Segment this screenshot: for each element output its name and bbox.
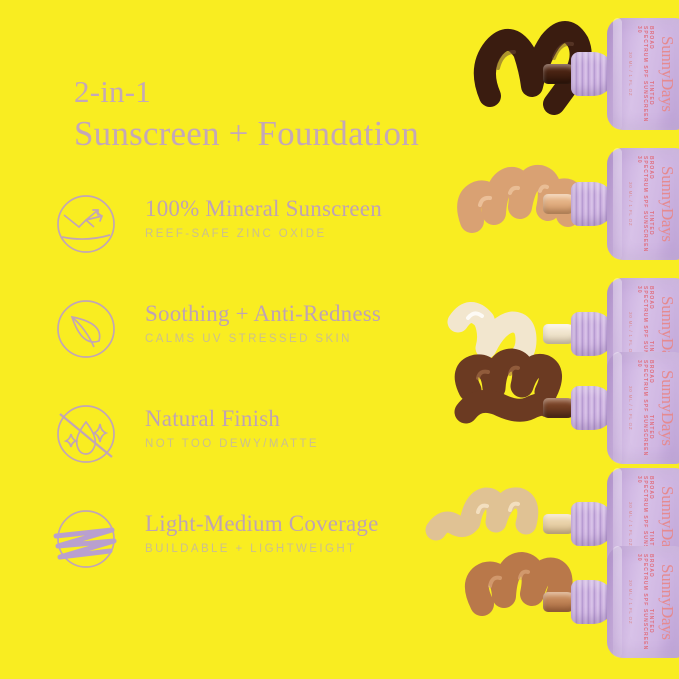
feature-text-group: Soothing + Anti-Redness CALMS UV STRESSE… <box>145 301 381 345</box>
bottle-label: 30 ML / 1 FL OZ BROAD SPECTRUM SPF 30 TI… <box>615 360 677 456</box>
bottle-volume: 30 ML / 1 FL OZ <box>628 502 633 546</box>
feature-item-natural-finish: Natural Finish NOT TOO DEWY/MATTE <box>52 400 472 505</box>
feature-subtitle: NOT TOO DEWY/MATTE <box>145 438 319 450</box>
bottle-label: 30 ML / 1 FL OZ BROAD SPECTRUM SPF 30 TI… <box>615 554 677 650</box>
feature-subtitle: REEF-SAFE ZINC OXIDE <box>145 228 382 240</box>
product-bottle[interactable]: 30 ML / 1 FL OZ BROAD SPECTRUM SPF 30 TI… <box>573 148 679 260</box>
feature-subtitle: CALMS UV STRESSED SKIN <box>145 333 381 345</box>
feature-title: Natural Finish <box>145 406 319 432</box>
bottle-claims: BROAD SPECTRUM SPF 30 TINTED SUNSCREEN <box>636 156 654 252</box>
sunscreen-deflect-icon <box>52 190 120 258</box>
bottle-claims: BROAD SPECTRUM SPF 30 TINTED SUNSCREEN <box>636 554 654 650</box>
bottle-claim-line-2: TINTED SUNSCREEN <box>636 211 654 252</box>
bottle-label: 30 ML / 1 FL OZ BROAD SPECTRUM SPF 30 TI… <box>615 26 677 122</box>
product-bottle[interactable]: 30 ML / 1 FL OZ BROAD SPECTRUM SPF 30 TI… <box>573 546 679 658</box>
product-ad-canvas: 2-in-1 Sunscreen + Foundation 100% Miner… <box>0 0 679 679</box>
feature-text-group: Natural Finish NOT TOO DEWY/MATTE <box>145 406 319 450</box>
feature-item-soothing: Soothing + Anti-Redness CALMS UV STRESSE… <box>52 295 472 400</box>
bottle-claim-line-2: TINTED SUNSCREEN <box>636 81 654 122</box>
product-bottle[interactable]: 30 ML / 1 FL OZ BROAD SPECTRUM SPF 30 TI… <box>573 352 679 464</box>
feature-text-group: Light-Medium Coverage BUILDABLE + LIGHTW… <box>145 511 379 555</box>
brand-name: SunnyDays <box>657 370 677 446</box>
bottle-claim-line-1: BROAD SPECTRUM SPF 30 <box>636 156 654 209</box>
product-bottle[interactable]: 30 ML / 1 FL OZ BROAD SPECTRUM SPF 30 TI… <box>573 18 679 130</box>
bottle-claim-line-2: TINTED SUNSCREEN <box>636 609 654 650</box>
product-bottle-column: 30 ML / 1 FL OZ BROAD SPECTRUM SPF 30 TI… <box>430 0 679 679</box>
feature-title: Light-Medium Coverage <box>145 511 379 537</box>
bottle-claim-line-2: TINTED SUNSCREEN <box>636 415 654 456</box>
product-unit: 30 ML / 1 FL OZ BROAD SPECTRUM SPF 30 TI… <box>430 18 679 148</box>
bottle-volume: 30 ML / 1 FL OZ <box>628 52 633 96</box>
feature-subtitle: BUILDABLE + LIGHTWEIGHT <box>145 543 379 555</box>
bottle-claim-line-1: BROAD SPECTRUM SPF 30 <box>636 286 654 339</box>
bottle-claim-line-1: BROAD SPECTRUM SPF 30 <box>636 476 654 529</box>
feature-title: Soothing + Anti-Redness <box>145 301 381 327</box>
no-dewy-droplet-icon <box>52 400 120 468</box>
brand-name: SunnyDays <box>657 564 677 640</box>
feature-text-group: 100% Mineral Sunscreen REEF-SAFE ZINC OX… <box>145 196 382 240</box>
feature-title: 100% Mineral Sunscreen <box>145 196 382 222</box>
bottle-label: 30 ML / 1 FL OZ BROAD SPECTRUM SPF 30 TI… <box>615 156 677 252</box>
brand-name: SunnyDays <box>657 166 677 242</box>
bottle-claim-line-1: BROAD SPECTRUM SPF 30 <box>636 360 654 413</box>
bottle-claim-line-1: BROAD SPECTRUM SPF 30 <box>636 26 654 79</box>
bottle-volume: 30 ML / 1 FL OZ <box>628 312 633 356</box>
feature-list: 100% Mineral Sunscreen REEF-SAFE ZINC OX… <box>52 190 472 610</box>
bottle-volume: 30 ML / 1 FL OZ <box>628 182 633 226</box>
feature-item-mineral-sunscreen: 100% Mineral Sunscreen REEF-SAFE ZINC OX… <box>52 190 472 295</box>
feature-item-coverage: Light-Medium Coverage BUILDABLE + LIGHTW… <box>52 505 472 610</box>
product-unit: 30 ML / 1 FL OZ BROAD SPECTRUM SPF 30 TI… <box>430 148 679 278</box>
coverage-swatch-icon <box>52 505 120 573</box>
bottle-volume: 30 ML / 1 FL OZ <box>628 580 633 624</box>
bottle-claims: BROAD SPECTRUM SPF 30 TINTED SUNSCREEN <box>636 360 654 456</box>
brand-name: SunnyDays <box>657 36 677 112</box>
leaf-icon <box>52 295 120 363</box>
bottle-claims: BROAD SPECTRUM SPF 30 TINTED SUNSCREEN <box>636 26 654 122</box>
bottle-volume: 30 ML / 1 FL OZ <box>628 386 633 430</box>
product-unit: 30 ML / 1 FL OZ BROAD SPECTRUM SPF 30 TI… <box>430 546 679 679</box>
bottle-claim-line-1: BROAD SPECTRUM SPF 30 <box>636 554 654 607</box>
